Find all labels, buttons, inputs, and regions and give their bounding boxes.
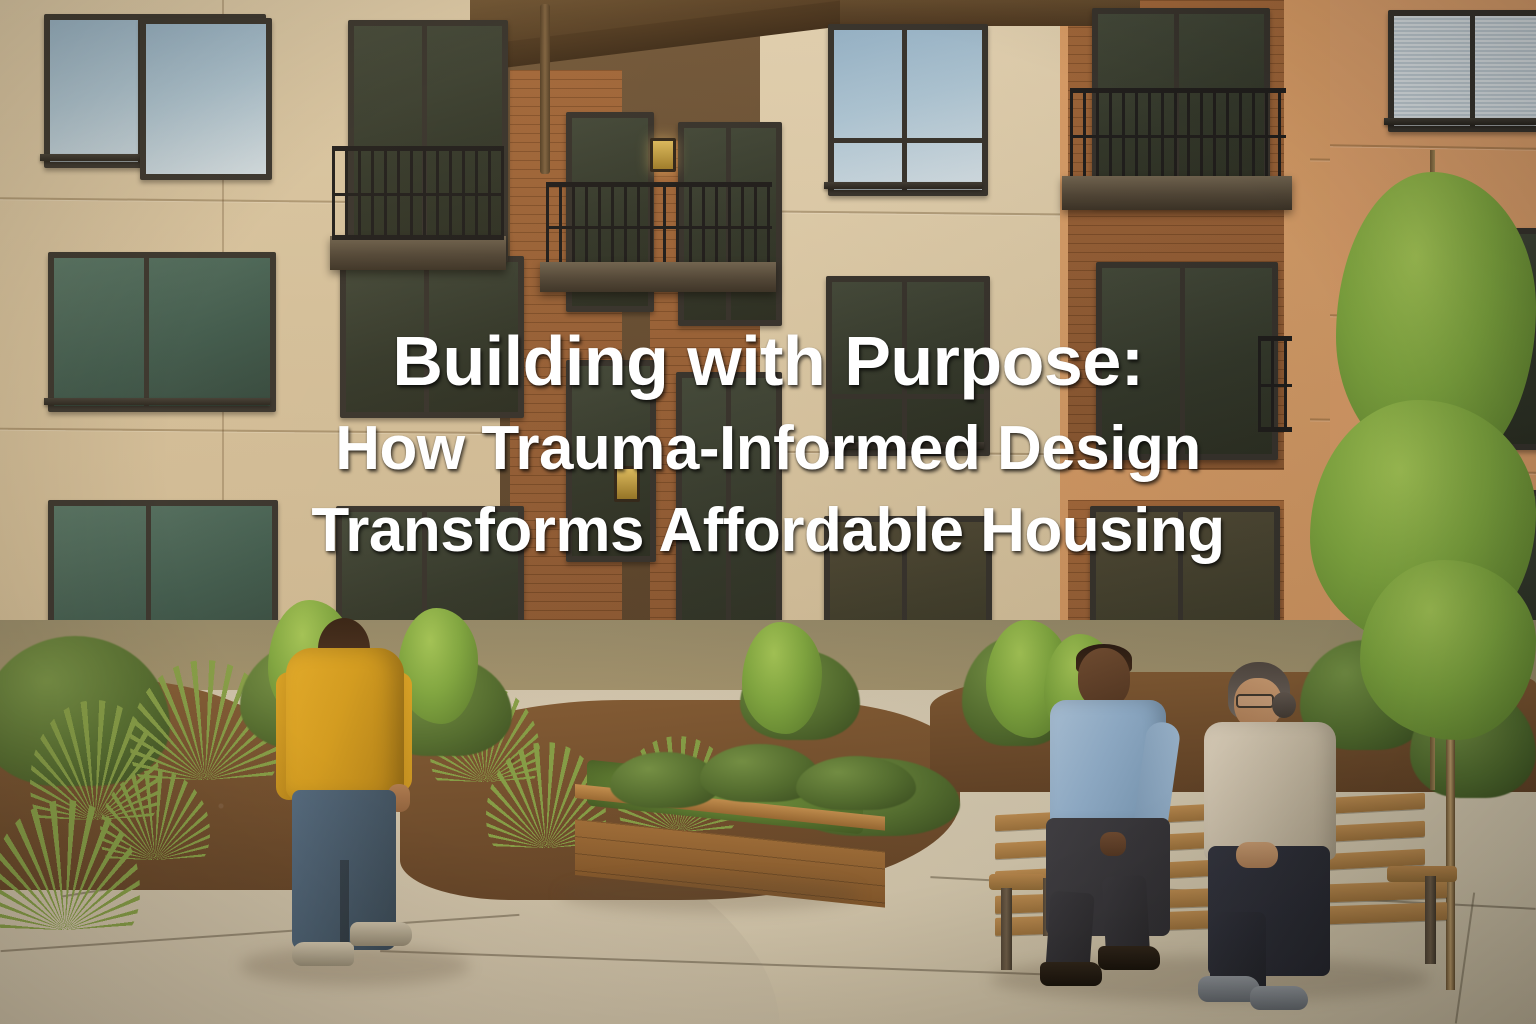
man-left-shoe (1040, 962, 1102, 986)
balcony-railing-right (1070, 88, 1286, 182)
window-sill (824, 182, 982, 189)
balcony-railing-center (546, 182, 772, 270)
balcony-deck-right (1062, 176, 1292, 210)
cast-shadow (240, 946, 470, 986)
window-sill (1384, 118, 1536, 125)
balcony-deck-center (540, 262, 776, 292)
walker-left-shoe (292, 942, 354, 966)
window-upper-center-right (828, 24, 988, 196)
window-upper-far-right (1388, 10, 1536, 132)
woman-right-shoe (1250, 986, 1308, 1010)
walker-sweater (286, 648, 404, 800)
man-head (1078, 648, 1130, 708)
woman-hands (1236, 842, 1278, 868)
downspout (540, 4, 550, 174)
window-mid-center-right (826, 276, 990, 456)
balcony-deck-left (330, 236, 506, 270)
young-tree-canopy (1360, 560, 1536, 740)
bench-armrest-left (989, 874, 1045, 890)
woman-hair-bun (1272, 692, 1296, 718)
bench-leg (1001, 888, 1012, 970)
man-right-shin (1102, 875, 1150, 957)
window-sill (822, 442, 984, 449)
window-mid-left-b (340, 256, 524, 418)
walker-leg-separation (340, 860, 349, 952)
window-mid-left-a (48, 252, 276, 412)
cast-shadow (560, 876, 860, 912)
bench-leg (1425, 876, 1436, 964)
bench-armrest-right (1387, 866, 1457, 882)
window-upper-left-b (140, 18, 272, 180)
man-right-shoe (1098, 946, 1160, 970)
balcony-railing-right-partial (1258, 336, 1292, 432)
man-hand (1100, 832, 1126, 856)
window-mid-right (1096, 262, 1278, 460)
balcony-railing-left (332, 146, 504, 240)
woman-glasses (1236, 694, 1274, 708)
woman-cardigan (1204, 722, 1336, 860)
courtyard-tree-canopy (742, 622, 822, 734)
wall-sconce-icon (650, 138, 676, 172)
window-recess-lower (566, 360, 656, 562)
hero-banner: Building with Purpose: How Trauma-Inform… (0, 0, 1536, 1024)
walker-right-shoe (350, 922, 412, 946)
wall-sconce-icon (614, 466, 640, 502)
window-sill (44, 398, 270, 405)
